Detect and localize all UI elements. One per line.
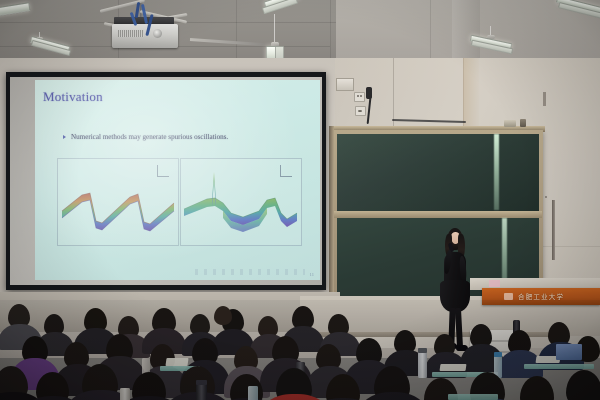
- chalkboard-ledge-items: [520, 119, 526, 127]
- chalkboard-panel-upper: [337, 134, 539, 212]
- surface-plot-spurious-oscillation: [183, 169, 299, 237]
- projector-vent: [118, 30, 144, 37]
- notebook: [440, 364, 467, 371]
- audience: [0, 300, 600, 400]
- wall-switch-panel[interactable]: [336, 78, 354, 91]
- water-bottle: [248, 386, 258, 400]
- surface-plot-sawtooth: [60, 173, 176, 237]
- audience-head: [566, 370, 600, 400]
- ceiling-light-fixture: [30, 34, 72, 56]
- audience-head: [214, 306, 232, 325]
- wall-outlet[interactable]: [355, 106, 366, 116]
- pink-paper: [489, 280, 500, 287]
- chalkboard-left-edge: [329, 126, 334, 302]
- slide-page-number: 11: [310, 272, 314, 277]
- chalkboard-middle-rail: [334, 211, 542, 218]
- projector-lens: [153, 29, 162, 38]
- bottle-cap: [196, 380, 207, 385]
- wall-pipe: [552, 200, 555, 260]
- ceiling-light-fixture: [556, 0, 600, 20]
- ceiling-light-fixture: [258, 0, 298, 62]
- notebook: [165, 358, 188, 366]
- laptop: [556, 344, 582, 360]
- slide-bullet-item: Numerical methods may generate spurious …: [63, 128, 313, 146]
- slide-figure-left: [57, 158, 179, 246]
- bottle-cap: [494, 352, 502, 357]
- desk-surface: [524, 364, 594, 369]
- lecture-hall-photo: Motivation Numerical methods may generat…: [0, 0, 600, 400]
- desk-surface: [448, 394, 498, 400]
- triangle-bullet-icon: [63, 135, 66, 139]
- slide-title: Motivation: [43, 89, 103, 105]
- thermos-flask: [418, 352, 427, 378]
- wall-screw: [545, 196, 547, 198]
- chalkboard-ledge-items: [504, 120, 516, 127]
- thermos-flask: [196, 384, 207, 400]
- wall-outlet[interactable]: [354, 92, 365, 102]
- slide-navigation-icons[interactable]: [195, 269, 305, 275]
- slide-figure-right: [180, 158, 302, 246]
- wall-mark: [543, 92, 546, 106]
- ceiling-projector: [96, 0, 204, 52]
- university-crest-icon: [504, 293, 513, 300]
- slide-bullet-text: Numerical methods may generate spurious …: [71, 133, 228, 141]
- thermos-flask: [120, 388, 130, 400]
- ceiling-light-fixture: [470, 32, 514, 56]
- projected-slide: Motivation Numerical methods may generat…: [35, 80, 320, 280]
- chalkboard-light-reflection: [494, 134, 499, 210]
- audience-head: [520, 376, 554, 400]
- bottle-cap: [418, 348, 427, 353]
